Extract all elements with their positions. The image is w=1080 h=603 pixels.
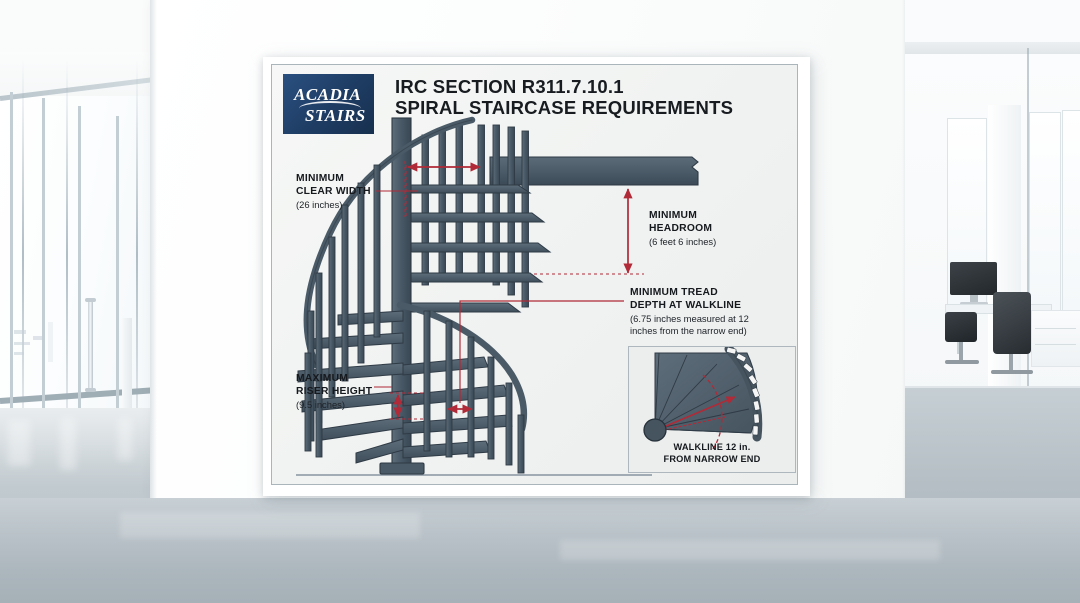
cabinet-drawer — [1035, 328, 1076, 329]
annotation-headroom: MINIMUM HEADROOM (6 feet 6 inches) — [649, 210, 769, 248]
annotation-riser-height: MAXIMUM RISER HEIGHT (9.5 inches) — [296, 373, 408, 411]
floor-reflection — [118, 418, 132, 460]
clear-width-value: (26 inches) — [296, 199, 406, 210]
glass-partition-edge — [136, 60, 138, 450]
right-soffit — [905, 42, 1080, 54]
front-treads — [403, 357, 512, 458]
skyline-detail — [14, 330, 26, 334]
skyline-detail — [14, 342, 30, 345]
glass-partition-edge — [66, 60, 68, 450]
cabinet-drawer — [1035, 344, 1076, 345]
poster-inner-panel: ACADIA STAIRS IRC SECTION R311.7.10.1 SP… — [271, 64, 798, 485]
column-base-plate — [380, 463, 424, 474]
left-window-band — [0, 96, 170, 436]
tread-depth-heading-2: DEPTH AT WALKLINE — [630, 300, 790, 313]
chair-base — [945, 360, 979, 364]
tread-depth-value-2: inches from the narrow end) — [630, 325, 790, 336]
headroom-value: (6 feet 6 inches) — [649, 236, 769, 247]
annotation-clear-width: MINIMUM CLEAR WIDTH (26 inches) — [296, 173, 406, 211]
right-window — [1029, 112, 1061, 314]
right-structural-column — [988, 105, 1021, 405]
floor-reflection — [60, 418, 76, 470]
riser-height-value: (9.5 inches) — [296, 399, 408, 410]
chair-stem — [959, 342, 963, 362]
left-mullion — [116, 116, 119, 416]
walkline-caption-line-1: WALKLINE 12 in. — [673, 442, 750, 452]
office-chair — [993, 292, 1031, 354]
left-mullion — [78, 106, 81, 418]
walkline-inset-diagram: WALKLINE 12 in. FROM NARROW END — [628, 346, 796, 473]
skyline-detail — [33, 336, 42, 340]
chair-base — [991, 370, 1033, 374]
left-mullion — [10, 92, 13, 412]
tread-depth-heading-1: MINIMUM TREAD — [630, 287, 790, 300]
headroom-heading-2: HEADROOM — [649, 223, 769, 236]
riser-height-heading-2: RISER HEIGHT — [296, 386, 408, 399]
floor-sheen — [120, 512, 420, 538]
left-mullion — [42, 98, 45, 416]
skyline-detail — [14, 352, 24, 355]
skyline-detail — [48, 322, 53, 362]
door-handle[interactable] — [88, 300, 93, 390]
right-window — [1062, 110, 1080, 317]
office-chair — [945, 312, 977, 342]
floor-sheen — [560, 540, 940, 560]
riser-height-heading-1: MAXIMUM — [296, 373, 408, 386]
clear-width-heading-1: MINIMUM — [296, 173, 406, 186]
tread-depth-value-1: (6.75 inches measured at 12 — [630, 313, 790, 324]
clear-width-heading-2: CLEAR WIDTH — [296, 186, 406, 199]
walkline-caption-line-2: FROM NARROW END — [664, 454, 761, 464]
ceiling-beam — [490, 157, 698, 185]
headroom-dimension — [534, 189, 644, 274]
glass-partition-edge — [22, 60, 24, 450]
floor-reflection — [8, 420, 30, 466]
screenshot-scene: ACADIA STAIRS IRC SECTION R311.7.10.1 SP… — [0, 0, 1080, 603]
storage-cabinet — [1031, 310, 1080, 367]
headroom-heading-1: MINIMUM — [649, 210, 769, 223]
center-hub — [644, 419, 666, 441]
glass-door-post — [122, 318, 132, 418]
walkline-caption: WALKLINE 12 in. FROM NARROW END — [629, 442, 795, 465]
infographic-poster[interactable]: ACADIA STAIRS IRC SECTION R311.7.10.1 SP… — [263, 57, 810, 496]
annotation-tread-depth: MINIMUM TREAD DEPTH AT WALKLINE (6.75 in… — [630, 287, 790, 336]
left-ceiling — [0, 0, 170, 56]
monitor — [950, 262, 997, 295]
